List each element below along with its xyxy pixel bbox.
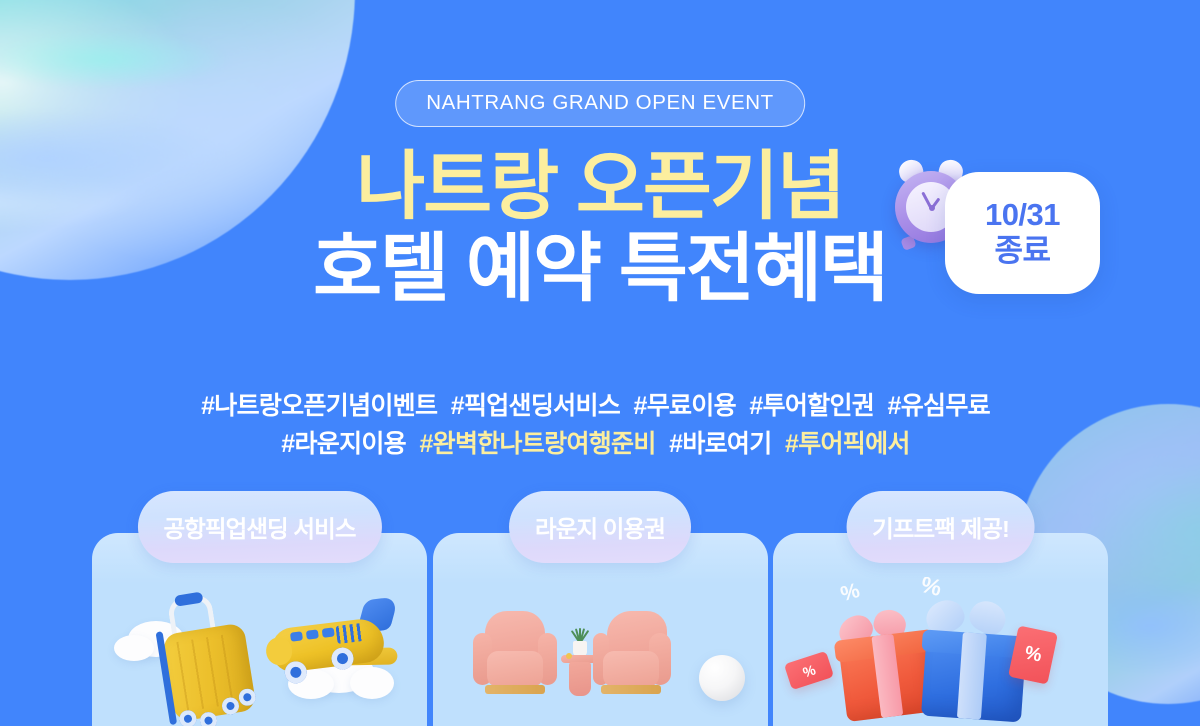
armchair-icon	[471, 611, 559, 699]
benefit-card-pill-label: 기프트팩 제공!	[846, 491, 1035, 563]
percent-symbol: %	[838, 579, 863, 607]
suitcase-airplane-illustration	[92, 577, 427, 726]
airplane-icon	[255, 593, 405, 701]
benefit-card-lounge-pass[interactable]: 라운지 이용권	[433, 533, 768, 726]
lounge-armchairs-illustration	[433, 577, 768, 726]
deadline-badge-group: 10/31 종료	[888, 158, 1103, 308]
deadline-date: 10/31	[985, 198, 1060, 233]
benefit-card-gift-pack[interactable]: 기프트팩 제공! % % % %	[773, 533, 1108, 726]
hashtag-item: #투어할인권	[749, 392, 874, 420]
hashtag-item: #바로여기	[669, 430, 771, 458]
benefit-card-pill-label: 라운지 이용권	[509, 491, 691, 563]
armchair-icon	[587, 611, 675, 699]
hashtag-item: #완벽한나트랑여행준비	[419, 430, 655, 458]
hashtag-item: #픽업샌딩서비스	[451, 392, 620, 420]
hashtag-item: #유심무료	[888, 392, 990, 420]
promo-banner: NAHTRANG GRAND OPEN EVENT 나트랑 오픈기념 호텔 예약…	[0, 0, 1200, 726]
hashtag-item: #무료이용	[634, 392, 736, 420]
deadline-badge: 10/31 종료	[945, 172, 1100, 294]
event-eyebrow-label: NAHTRANG GRAND OPEN EVENT	[395, 80, 805, 127]
deadline-status: 종료	[994, 234, 1050, 269]
hashtag-item: #라운지이용	[281, 430, 406, 458]
hashtag-row-1: #나트랑오픈기념이벤트 #픽업샌딩서비스 #무료이용 #투어할인권 #유심무료	[0, 387, 1200, 425]
gift-boxes-illustration: % % % %	[773, 577, 1108, 726]
discount-coupon-icon: %	[784, 651, 834, 690]
hashtag-row-2: #라운지이용 #완벽한나트랑여행준비 #바로여기 #투어픽에서	[0, 425, 1200, 463]
benefit-card-airport-pickup[interactable]: 공항픽업샌딩 서비스	[92, 533, 427, 726]
decorative-sphere	[699, 655, 745, 701]
benefit-card-list: 공항픽업샌딩 서비스	[0, 533, 1200, 726]
benefit-card-pill-label: 공항픽업샌딩 서비스	[137, 491, 381, 563]
hashtag-item: #나트랑오픈기념이벤트	[201, 392, 437, 420]
suitcase-icon	[143, 588, 265, 726]
hashtag-item: #투어픽에서	[785, 430, 910, 458]
hashtag-list: #나트랑오픈기념이벤트 #픽업샌딩서비스 #무료이용 #투어할인권 #유심무료 …	[0, 387, 1200, 463]
